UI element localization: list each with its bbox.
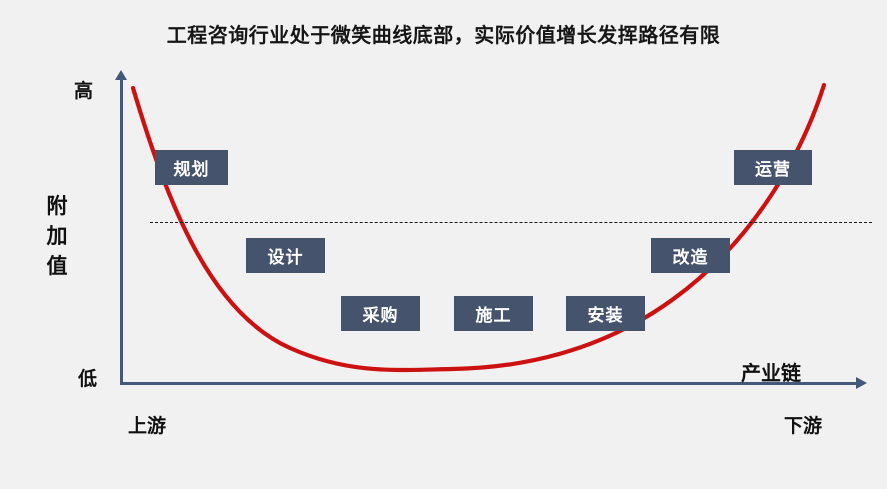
- stage-box-design[interactable]: 设计: [246, 238, 325, 273]
- slide-canvas: 工程咨询行业处于微笑曲线底部，实际价值增长发挥路径有限 高 低 附 加 值 产业…: [0, 0, 887, 489]
- x-axis-left-label: 上游: [128, 411, 166, 438]
- stage-box-installation[interactable]: 安装: [566, 296, 645, 331]
- y-axis-title-char-2: 加: [40, 222, 74, 252]
- y-axis-high-label: 高: [74, 76, 93, 103]
- stage-box-construction[interactable]: 施工: [454, 296, 533, 331]
- x-axis-arrow-icon: [856, 377, 867, 389]
- y-axis-title-char-1: 附: [40, 192, 74, 222]
- y-axis-title-char-3: 值: [40, 252, 74, 282]
- stage-box-renovation[interactable]: 改造: [651, 238, 730, 273]
- stage-box-planning[interactable]: 规划: [155, 150, 228, 185]
- y-axis-arrow-icon: [115, 70, 127, 80]
- x-axis-title: 产业链: [741, 357, 801, 386]
- stage-box-operation[interactable]: 运营: [734, 150, 812, 185]
- stage-box-procurement[interactable]: 采购: [341, 296, 420, 331]
- x-axis-right-label: 下游: [784, 411, 822, 438]
- reference-dashed-line: [150, 222, 872, 223]
- y-axis-low-label: 低: [78, 364, 97, 391]
- y-axis-line: [120, 78, 123, 384]
- y-axis-title: 附 加 值: [40, 192, 74, 281]
- page-title: 工程咨询行业处于微笑曲线底部，实际价值增长发挥路径有限: [0, 19, 887, 48]
